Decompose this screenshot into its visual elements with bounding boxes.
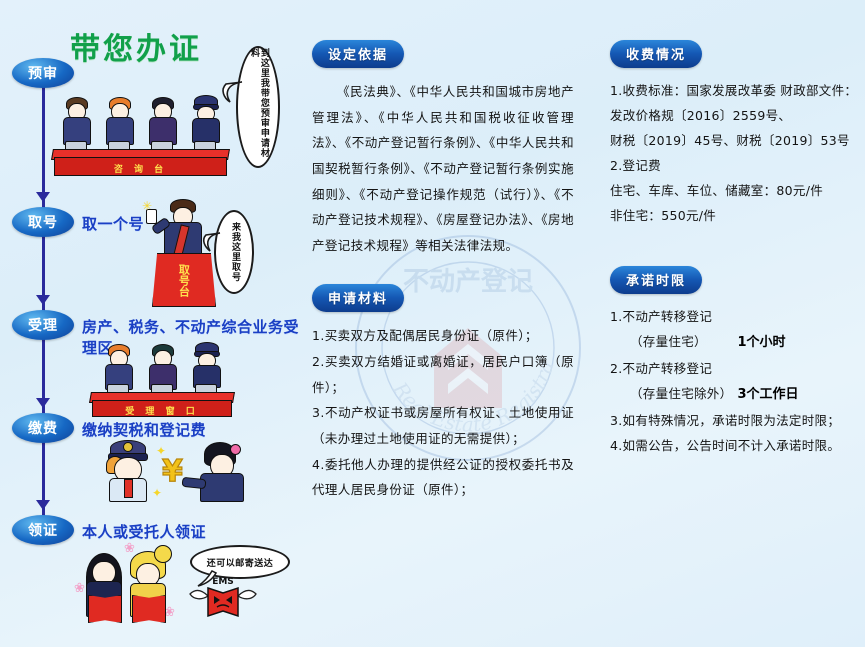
- section-body-fees: 1.收费标准：国家发展改革委 财政部文件： 发改价格规〔2016〕2559号、 …: [610, 78, 860, 228]
- flow-step-badge-accept[interactable]: 受理: [12, 310, 74, 340]
- ticket-bubble-text: 来我这里取号: [229, 222, 239, 282]
- flow-arrow-1: [36, 192, 50, 202]
- flow-step-badge-certificate[interactable]: 领证: [12, 515, 74, 545]
- timeline-value: 1个小时: [738, 330, 786, 356]
- timeline-item: 3.如有特殊情况，承诺时限为法定时限；: [610, 408, 860, 433]
- fees-line: 住宅、车库、车位、储藏室：80元/件: [610, 178, 860, 203]
- fees-line: 1.收费标准：国家发展改革委 财政部文件：: [610, 78, 860, 103]
- fees-line: 财税〔2019〕45号、财税〔2019〕53号: [610, 128, 860, 153]
- right-text-column: 收费情况 1.收费标准：国家发展改革委 财政部文件： 发改价格规〔2016〕25…: [610, 40, 860, 458]
- bubble-tail-2: [200, 230, 222, 256]
- consult-desk-scene: 咨 询 台: [52, 95, 227, 175]
- flow-step-label-certificate: 本人或受托人领证: [82, 521, 206, 542]
- payment-scene: ¥ ✦ ✦: [100, 440, 250, 500]
- accept-desk-label: 受 理 窗 口: [93, 404, 231, 417]
- flow-arrow-2: [36, 295, 50, 305]
- section-body-timeline: 1.不动产转移登记 （存量住宅） 1个小时 2.不动产转移登记 （存量住宅除外）…: [610, 304, 860, 458]
- section-heading-fees: 收费情况: [610, 40, 702, 68]
- timeline-row: （存量住宅除外） 3个工作日: [610, 381, 860, 408]
- accept-desk-scene: 受 理 窗 口: [90, 340, 232, 415]
- timeline-item: 4.如需公告，公告时间不计入承诺时限。: [610, 433, 860, 458]
- pre-review-bubble-text: 到这里我带您预审申请材料: [248, 48, 268, 166]
- ems-label: EMS: [212, 577, 234, 587]
- middle-text-column: 设定依据 《民法典》、《中华人民共和国城市房地产管理法》、《中华人民共和国税收征…: [312, 40, 574, 503]
- page-title: 带您办证: [70, 24, 202, 68]
- section-heading-timeline: 承诺时限: [610, 266, 702, 294]
- poster-root: 不动产登记 Real Estate Registration 带您办证 预审: [0, 0, 865, 647]
- fees-line: 非住宅：550元/件: [610, 203, 860, 228]
- section-body-basis: 《民法典》、《中华人民共和国城市房地产管理法》、《中华人民共和国税收征收管理法》…: [312, 79, 574, 258]
- timeline-item: 2.不动产转移登记: [610, 356, 860, 381]
- flow-step-label-ticket: 取一个号: [82, 213, 144, 234]
- flow-arrow-3: [36, 398, 50, 408]
- section-body-materials: 1.买卖双方及配偶居民身份证（原件）； 2.买卖双方结婚证或离婚证，居民户口簿（…: [312, 323, 574, 502]
- timeline-item: （存量住宅）: [610, 329, 738, 354]
- timeline-value: 3个工作日: [738, 382, 799, 408]
- process-flow-column: 带您办证 预审: [0, 0, 300, 647]
- ems-envelope: EMS: [186, 572, 260, 620]
- flow-step-badge-ticket[interactable]: 取号: [12, 207, 74, 237]
- timeline-item: （存量住宅除外）: [610, 381, 738, 406]
- bubble-tail-1: [218, 78, 244, 108]
- flow-arrow-4: [36, 500, 50, 510]
- materials-item: 2.买卖双方结婚证或离婚证，居民户口簿（原件）；: [312, 349, 574, 400]
- flow-axis-line: [42, 80, 45, 532]
- section-heading-materials: 申请材料: [312, 284, 404, 312]
- flow-step-badge-payment[interactable]: 缴费: [12, 413, 74, 443]
- fees-line: 2.登记费: [610, 153, 860, 178]
- basis-paragraph: 《民法典》、《中华人民共和国城市房地产管理法》、《中华人民共和国税收征收管理法》…: [312, 79, 574, 258]
- materials-item: 3.不动产权证书或房屋所有权证、土地使用证（未办理过土地使用证的无需提供）；: [312, 400, 574, 451]
- timeline-item: 1.不动产转移登记: [610, 304, 860, 329]
- flow-step-label-payment: 缴纳契税和登记费: [82, 419, 206, 440]
- certificate-scene: ❀ ❀ ❀: [80, 545, 190, 625]
- ticket-desk-label: 取号台: [152, 259, 214, 301]
- consult-desk-label: 咨 询 台: [55, 162, 226, 175]
- section-heading-basis: 设定依据: [312, 40, 404, 68]
- flow-step-badge-preaudit[interactable]: 预审: [12, 58, 74, 88]
- timeline-row: （存量住宅） 1个小时: [610, 329, 860, 356]
- materials-item: 4.委托他人办理的提供经公证的授权委托书及代理人居民身份证（原件）；: [312, 452, 574, 503]
- yuan-icon: ¥: [162, 454, 183, 489]
- fees-line: 发改价格规〔2016〕2559号、: [610, 103, 860, 128]
- materials-item: 1.买卖双方及配偶居民身份证（原件）；: [312, 323, 574, 349]
